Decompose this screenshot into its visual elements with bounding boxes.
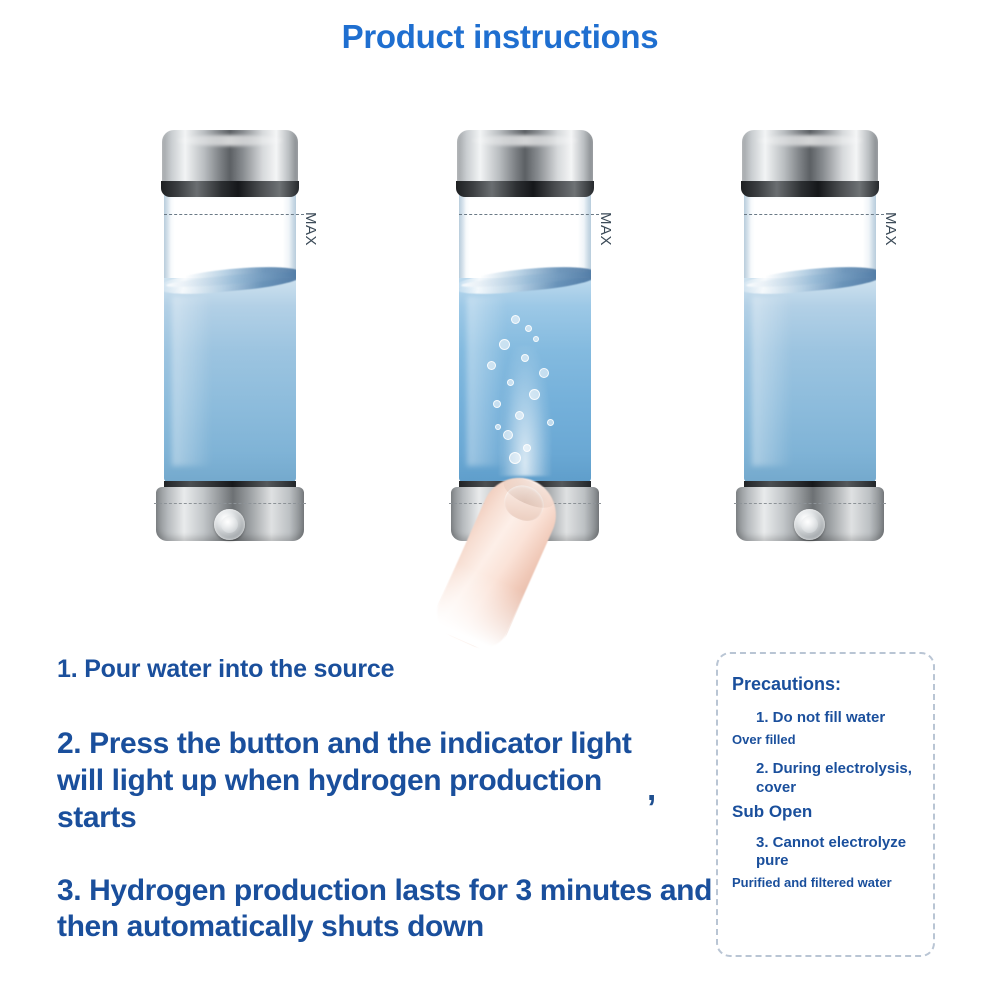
water-body — [459, 278, 591, 482]
bubble — [521, 354, 529, 362]
precaution-item-2: 2. During electrolysis, cover — [756, 760, 921, 798]
cap-sheen — [471, 135, 579, 146]
precautions-box: Precautions: 1. Do not fill water Over f… — [716, 652, 935, 957]
max-level-line — [459, 214, 599, 215]
bubble — [515, 411, 524, 420]
bubble — [511, 315, 520, 324]
power-button[interactable] — [214, 509, 245, 540]
bubble — [529, 389, 540, 400]
precaution-note-3: Purified and filtered water — [732, 875, 921, 891]
bottle-glass-body — [459, 186, 591, 482]
bottle-glass-body — [744, 186, 876, 482]
bottle-cap-icon — [742, 130, 878, 188]
bubble — [495, 424, 501, 430]
max-level-label: MAX — [302, 212, 319, 246]
bubble-stream — [499, 346, 551, 476]
bubble — [539, 368, 549, 378]
instruction-steps: 1. Pour water into the source 2. Press t… — [57, 655, 717, 945]
bottle-glass-body — [164, 186, 296, 482]
cap-sheen — [756, 135, 864, 146]
max-level-line — [164, 214, 304, 215]
water-gloss — [752, 296, 792, 466]
bottle-cap-icon — [162, 130, 298, 188]
bottle-base-unit — [736, 463, 884, 541]
precaution-item-3: 3. Cannot electrolyze pure — [756, 834, 921, 872]
bubble — [487, 361, 496, 370]
max-level-line — [744, 214, 884, 215]
precautions-title: Precautions: — [732, 674, 921, 695]
hydrogen-bubbles — [459, 278, 591, 482]
base-dash-line — [154, 503, 306, 504]
instruction-step-2: 2. Press the button and the indicator li… — [57, 726, 657, 837]
power-button[interactable] — [794, 509, 825, 540]
precaution-note-1: Over filled — [732, 732, 921, 748]
max-level-label: MAX — [597, 212, 614, 246]
stray-comma-mark: , — [647, 770, 656, 808]
base-collar — [744, 463, 876, 483]
bubble — [493, 400, 501, 408]
instruction-step-1: 1. Pour water into the source — [57, 655, 717, 684]
bottle-base-unit — [156, 463, 304, 541]
product-illustration: MAX — [0, 0, 1000, 640]
cap-sheen — [176, 135, 284, 146]
water-body — [744, 278, 876, 482]
bubble — [507, 379, 514, 386]
bubble — [523, 444, 531, 452]
bubble — [499, 339, 510, 350]
precaution-note-2: Sub Open — [732, 802, 921, 822]
bubble — [503, 430, 513, 440]
bottle-finished: MAX — [736, 130, 884, 540]
bubble — [547, 419, 554, 426]
finger-pressing-button — [429, 466, 568, 656]
base-dash-line — [734, 503, 886, 504]
bubble — [525, 325, 532, 332]
precaution-item-1: 1. Do not fill water — [756, 709, 921, 728]
bottle-pour: MAX — [156, 130, 304, 540]
base-collar — [164, 463, 296, 483]
instruction-step-3: 3. Hydrogen production lasts for 3 minut… — [57, 873, 737, 945]
bubble — [533, 336, 539, 342]
water-body — [164, 278, 296, 482]
bottle-cap-icon — [457, 130, 593, 188]
max-level-label: MAX — [882, 212, 899, 246]
water-gloss — [172, 296, 212, 466]
